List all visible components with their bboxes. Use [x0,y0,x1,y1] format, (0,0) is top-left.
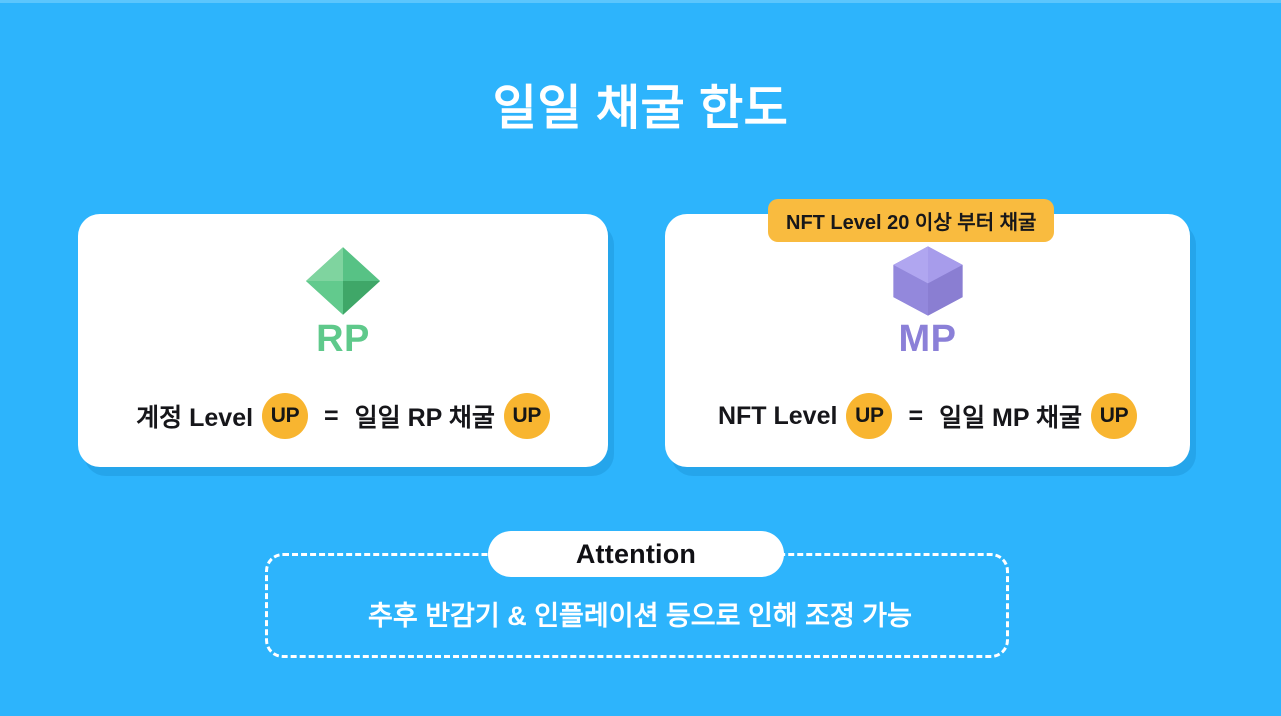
card-mp: MP NFT Level UP = 일일 MP 채굴 UP [665,214,1190,467]
mp-cube-icon [885,244,971,318]
token-label-mp: MP [899,320,957,358]
page-title: 일일 채굴 한도 [0,80,1281,138]
rp-gem-icon [300,244,386,318]
formula-rp-operator: = [324,402,339,431]
token-label-rp: RP [316,320,370,358]
formula-rp-right-text: 일일 RP 채굴 [355,398,495,434]
attention-message: 추후 반감기 & 인플레이션 등으로 인해 조정 가능 [268,594,1012,633]
up-badge-rp-right: UP [504,393,550,439]
token-block-rp: RP [78,244,608,358]
up-badge-rp-left: UP [262,393,308,439]
nft-level-requirement-badge: NFT Level 20 이상 부터 채굴 [768,199,1054,242]
formula-mp-operator: = [908,402,923,431]
formula-rp: 계정 Level UP = 일일 RP 채굴 UP [78,393,608,439]
attention-pill-label: Attention [488,531,784,577]
token-block-mp: MP [665,244,1190,358]
up-badge-mp-right: UP [1091,393,1137,439]
card-rp: RP 계정 Level UP = 일일 RP 채굴 UP [78,214,608,467]
formula-mp: NFT Level UP = 일일 MP 채굴 UP [665,393,1190,439]
top-edge-strip [0,0,1281,3]
formula-mp-right-text: 일일 MP 채굴 [939,398,1082,434]
slide-root: 일일 채굴 한도 RP 계정 Level UP = 일일 RP 채굴 UP [0,0,1281,716]
formula-mp-left-text: NFT Level [718,402,837,431]
formula-rp-left-text: 계정 Level [136,398,253,434]
up-badge-mp-left: UP [846,393,892,439]
